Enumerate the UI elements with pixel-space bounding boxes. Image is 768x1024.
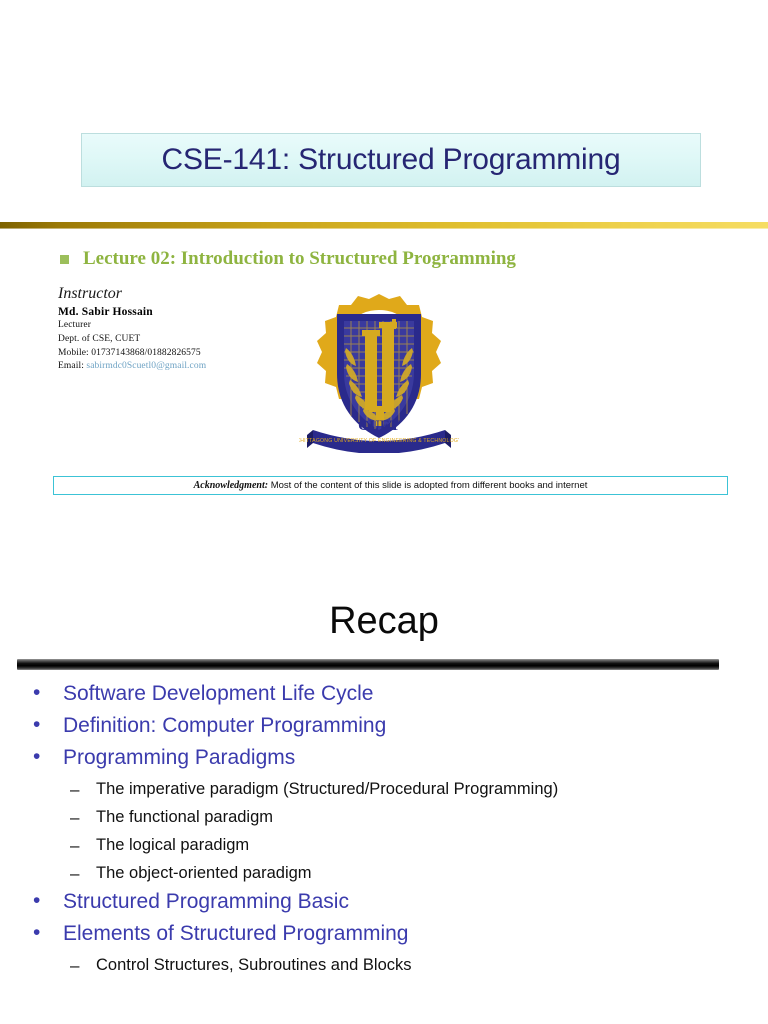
instructor-mobile: Mobile: 01737143868/01882826575 (58, 347, 308, 361)
list-item: •Elements of Structured Programming (0, 920, 768, 948)
list-item: •Software Development Life Cycle (0, 680, 768, 708)
list-item-label: Structured Programming Basic (63, 888, 349, 916)
bullet-dash-icon: – (70, 776, 96, 803)
acknowledgment-label: Acknowledgment: (194, 480, 268, 491)
bullet-dash-icon: – (70, 832, 96, 859)
list-item: •Structured Programming Basic (0, 888, 768, 916)
course-title: CSE-141: Structured Programming (162, 143, 621, 177)
list-item-label: Software Development Life Cycle (63, 680, 373, 708)
lecture-heading: Lecture 02: Introduction to Structured P… (83, 248, 516, 270)
gold-divider (0, 222, 768, 229)
list-item-label: Control Structures, Subroutines and Bloc… (96, 952, 412, 979)
list-item: –Control Structures, Subroutines and Blo… (0, 952, 768, 979)
course-title-box: CSE-141: Structured Programming (81, 133, 701, 187)
instructor-info: Instructor Md. Sabir Hossain Lecturer De… (58, 285, 308, 374)
bullet-dot-icon: • (33, 888, 63, 914)
list-item-label: Programming Paradigms (63, 744, 295, 772)
list-item-label: The object-oriented paradigm (96, 860, 312, 887)
bullet-dash-icon: – (70, 804, 96, 831)
list-item: –The functional paradigm (0, 804, 768, 831)
svg-text:CHITTAGONG UNIVERSITY OF ENGIN: CHITTAGONG UNIVERSITY OF ENGINEERING & T… (299, 438, 459, 444)
list-item-label: The logical paradigm (96, 832, 249, 859)
list-item-label: The imperative paradigm (Structured/Proc… (96, 776, 558, 803)
instructor-label: Instructor (58, 285, 308, 303)
recap-bullet-list: •Software Development Life Cycle•Definit… (0, 680, 768, 980)
list-item: –The imperative paradigm (Structured/Pro… (0, 776, 768, 803)
acknowledgment-body: Most of the content of this slide is ado… (268, 480, 587, 491)
slide-title-page: CSE-141: Structured Programming Lecture … (0, 0, 768, 560)
slide-recap: Recap •Software Development Life Cycle•D… (0, 560, 768, 1024)
cuet-acronym: CUET (358, 418, 400, 434)
instructor-designation: Lecturer (58, 319, 308, 333)
instructor-email-row: Email: sabirmdc0Scuetl0@gmail.com (58, 360, 308, 374)
instructor-name: Md. Sabir Hossain (58, 305, 308, 319)
list-item: •Definition: Computer Programming (0, 712, 768, 740)
lecture-heading-row: Lecture 02: Introduction to Structured P… (60, 248, 516, 270)
list-item: –The logical paradigm (0, 832, 768, 859)
list-item-label: Elements of Structured Programming (63, 920, 408, 948)
list-item-label: Definition: Computer Programming (63, 712, 386, 740)
email-label: Email: (58, 361, 86, 371)
bullet-dash-icon: – (70, 952, 96, 979)
bullet-dot-icon: • (33, 920, 63, 946)
bullet-dot-icon: • (33, 744, 63, 770)
list-item: –The object-oriented paradigm (0, 860, 768, 887)
list-item: •Programming Paradigms (0, 744, 768, 772)
page-title: Recap (0, 600, 768, 643)
email-address[interactable]: sabirmdc0Scuetl0@gmail.com (86, 361, 206, 371)
bullet-dot-icon: • (33, 712, 63, 738)
title-divider (17, 659, 719, 670)
instructor-department: Dept. of CSE, CUET (58, 333, 308, 347)
acknowledgment-text: Acknowledgment: Most of the content of t… (194, 480, 588, 491)
bullet-dot-icon: • (33, 680, 63, 706)
list-item-label: The functional paradigm (96, 804, 273, 831)
cuet-logo: CUET CHITTAGONG UNIVERSITY OF ENGINEERIN… (299, 288, 459, 453)
bullet-dash-icon: – (70, 860, 96, 887)
square-bullet-icon (60, 255, 69, 264)
acknowledgment-box: Acknowledgment: Most of the content of t… (53, 476, 728, 495)
